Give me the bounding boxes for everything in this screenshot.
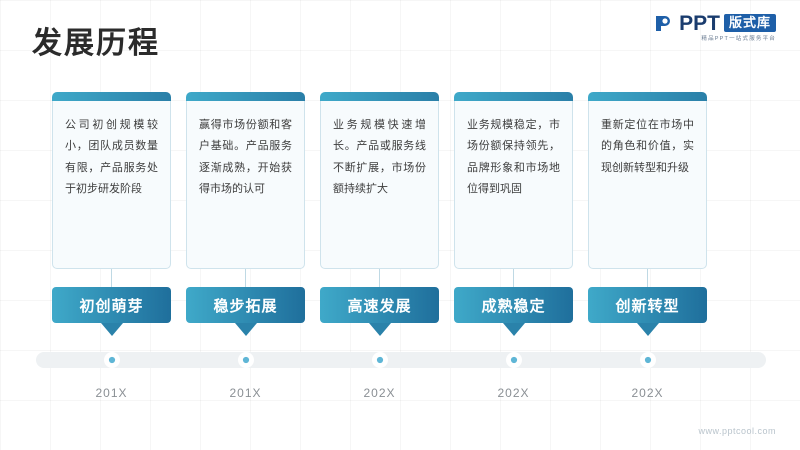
- card-stem: [647, 269, 648, 287]
- card-box: 业务规模稳定，市场份额保持领先，品牌形象和市场地位得到巩固: [454, 101, 573, 269]
- card-description: 公司初创规模较小，团队成员数量有限，产品服务处于初步研发阶段: [53, 101, 170, 201]
- timeline-year: 202X: [631, 386, 663, 400]
- card-label-wrap: 稳步拓展: [186, 287, 305, 336]
- timeline-marker[interactable]: 202X: [588, 352, 707, 400]
- card-box: 公司初创规模较小，团队成员数量有限，产品服务处于初步研发阶段: [52, 101, 171, 269]
- timeline-dot-icon: [506, 352, 522, 368]
- timeline-item[interactable]: 公司初创规模较小，团队成员数量有限，产品服务处于初步研发阶段 初创萌芽: [52, 92, 171, 336]
- watermark: www.pptcool.com: [698, 426, 776, 436]
- card-stem: [245, 269, 246, 287]
- card-box: 重新定位在市场中的角色和价值，实现创新转型和升级: [588, 101, 707, 269]
- timeline-marker[interactable]: 202X: [320, 352, 439, 400]
- card-top-bar: [320, 92, 439, 101]
- card-description: 业务规模快速增长。产品或服务线不断扩展，市场份额持续扩大: [321, 101, 438, 201]
- card-top-bar: [588, 92, 707, 101]
- timeline-dot-icon: [238, 352, 254, 368]
- card-top-bar: [52, 92, 171, 101]
- timeline-item[interactable]: 赢得市场份额和客户基础。产品服务逐渐成熟，开始获得市场的认可 稳步拓展: [186, 92, 305, 336]
- card-box: 业务规模快速增长。产品或服务线不断扩展，市场份额持续扩大: [320, 101, 439, 269]
- timeline-item[interactable]: 业务规模稳定，市场份额保持领先，品牌形象和市场地位得到巩固 成熟稳定: [454, 92, 573, 336]
- timeline-item[interactable]: 业务规模快速增长。产品或服务线不断扩展，市场份额持续扩大 高速发展: [320, 92, 439, 336]
- card-stem: [111, 269, 112, 287]
- card-label[interactable]: 创新转型: [588, 287, 707, 323]
- timeline-marker[interactable]: 201X: [186, 352, 305, 400]
- logo-text: PPT: [679, 13, 720, 34]
- logo-subtitle: 精品PPT一站式服务平台: [701, 34, 776, 42]
- timeline-markers: 201X 201X 202X 202X 202X: [52, 352, 752, 400]
- card-top-bar: [454, 92, 573, 101]
- card-arrow-icon: [637, 323, 659, 336]
- card-description: 业务规模稳定，市场份额保持领先，品牌形象和市场地位得到巩固: [455, 101, 572, 201]
- timeline-year: 202X: [497, 386, 529, 400]
- card-stem: [379, 269, 380, 287]
- card-label-wrap: 初创萌芽: [52, 287, 171, 336]
- card-arrow-icon: [503, 323, 525, 336]
- card-arrow-icon: [235, 323, 257, 336]
- page-title: 发展历程: [32, 18, 160, 62]
- timeline-dot-icon: [640, 352, 656, 368]
- brand-logo: PPT 版式库: [653, 12, 776, 34]
- card-top-bar: [186, 92, 305, 101]
- card-description: 赢得市场份额和客户基础。产品服务逐渐成熟，开始获得市场的认可: [187, 101, 304, 201]
- timeline-marker[interactable]: 201X: [52, 352, 171, 400]
- card-arrow-icon: [101, 323, 123, 336]
- card-label-wrap: 创新转型: [588, 287, 707, 336]
- timeline-year: 202X: [363, 386, 395, 400]
- card-stem: [513, 269, 514, 287]
- timeline-cards: 公司初创规模较小，团队成员数量有限，产品服务处于初步研发阶段 初创萌芽 赢得市场…: [52, 92, 752, 336]
- card-label[interactable]: 初创萌芽: [52, 287, 171, 323]
- timeline-year: 201X: [95, 386, 127, 400]
- card-label[interactable]: 成熟稳定: [454, 287, 573, 323]
- timeline-year: 201X: [229, 386, 261, 400]
- timeline-dot-icon: [372, 352, 388, 368]
- ppt-logo-icon: [653, 12, 675, 34]
- card-arrow-icon: [369, 323, 391, 336]
- timeline-dot-icon: [104, 352, 120, 368]
- logo-badge: 版式库: [724, 14, 776, 32]
- card-label-wrap: 成熟稳定: [454, 287, 573, 336]
- timeline-marker[interactable]: 202X: [454, 352, 573, 400]
- card-description: 重新定位在市场中的角色和价值，实现创新转型和升级: [589, 101, 706, 179]
- timeline-item[interactable]: 重新定位在市场中的角色和价值，实现创新转型和升级 创新转型: [588, 92, 707, 336]
- card-label[interactable]: 稳步拓展: [186, 287, 305, 323]
- card-box: 赢得市场份额和客户基础。产品服务逐渐成熟，开始获得市场的认可: [186, 101, 305, 269]
- card-label-wrap: 高速发展: [320, 287, 439, 336]
- card-label[interactable]: 高速发展: [320, 287, 439, 323]
